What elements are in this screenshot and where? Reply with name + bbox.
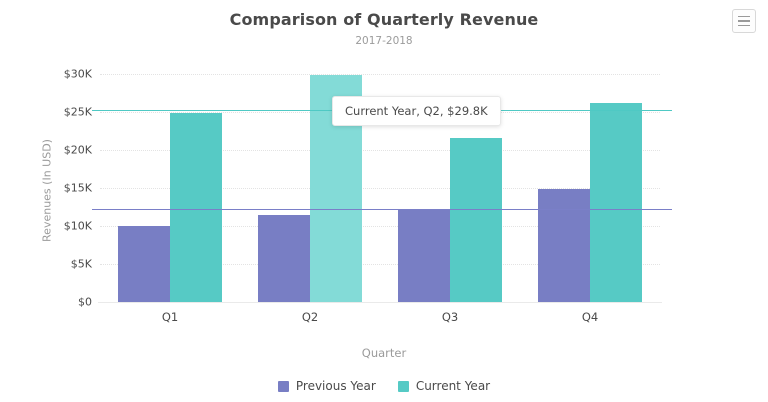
bar-rect[interactable] bbox=[590, 103, 642, 302]
y-axis-tick-label: $0 bbox=[78, 296, 92, 309]
x-axis-tick-label: Q2 bbox=[302, 310, 318, 324]
y-axis-tick-label: $15K bbox=[64, 181, 92, 194]
bar-rect[interactable] bbox=[170, 113, 222, 302]
reference-line-previous-avg bbox=[92, 209, 672, 210]
bar-rect[interactable] bbox=[258, 215, 310, 302]
bar-q4-current-year[interactable] bbox=[590, 66, 642, 302]
x-axis-baseline bbox=[98, 302, 662, 303]
chart-subtitle: 2017-2018 bbox=[0, 35, 768, 47]
y-axis-title: Revenues (In USD) bbox=[41, 121, 54, 261]
bar-q1-current-year[interactable] bbox=[170, 66, 222, 302]
x-axis-tick-label: Q4 bbox=[582, 310, 598, 324]
bar-rect[interactable] bbox=[538, 189, 590, 302]
y-axis-tick-label: $10K bbox=[64, 219, 92, 232]
y-axis-tick-label: $30K bbox=[64, 67, 92, 80]
legend-label: Current Year bbox=[416, 379, 490, 393]
bar-rect[interactable] bbox=[118, 226, 170, 302]
bar-q4-previous-year[interactable] bbox=[538, 66, 590, 302]
chart-title: Comparison of Quarterly Revenue bbox=[0, 10, 768, 29]
legend-item-previous-year[interactable]: Previous Year bbox=[278, 379, 376, 393]
x-axis-tick-label: Q1 bbox=[162, 310, 178, 324]
chart-widget: Comparison of Quarterly Revenue 2017-201… bbox=[0, 0, 768, 402]
x-axis-title: Quarter bbox=[0, 346, 768, 360]
bar-q1-previous-year[interactable] bbox=[118, 66, 170, 302]
x-axis-tick-label: Q3 bbox=[442, 310, 458, 324]
y-axis-tick-label: $5K bbox=[71, 257, 92, 270]
x-axis-tick-labels: Q1Q2Q3Q4 bbox=[100, 310, 660, 330]
chart-legend: Previous YearCurrent Year bbox=[0, 379, 768, 393]
data-point-tooltip: Current Year, Q2, $29.8K bbox=[332, 96, 501, 126]
y-axis-tick-label: $25K bbox=[64, 105, 92, 118]
legend-label: Previous Year bbox=[296, 379, 376, 393]
legend-swatch bbox=[278, 381, 289, 392]
y-axis-tick-label: $20K bbox=[64, 143, 92, 156]
title-block: Comparison of Quarterly Revenue 2017-201… bbox=[0, 10, 768, 47]
legend-swatch bbox=[398, 381, 409, 392]
bar-rect[interactable] bbox=[398, 209, 450, 302]
bar-rect[interactable] bbox=[450, 138, 502, 302]
legend-item-current-year[interactable]: Current Year bbox=[398, 379, 490, 393]
bar-q2-previous-year[interactable] bbox=[258, 66, 310, 302]
